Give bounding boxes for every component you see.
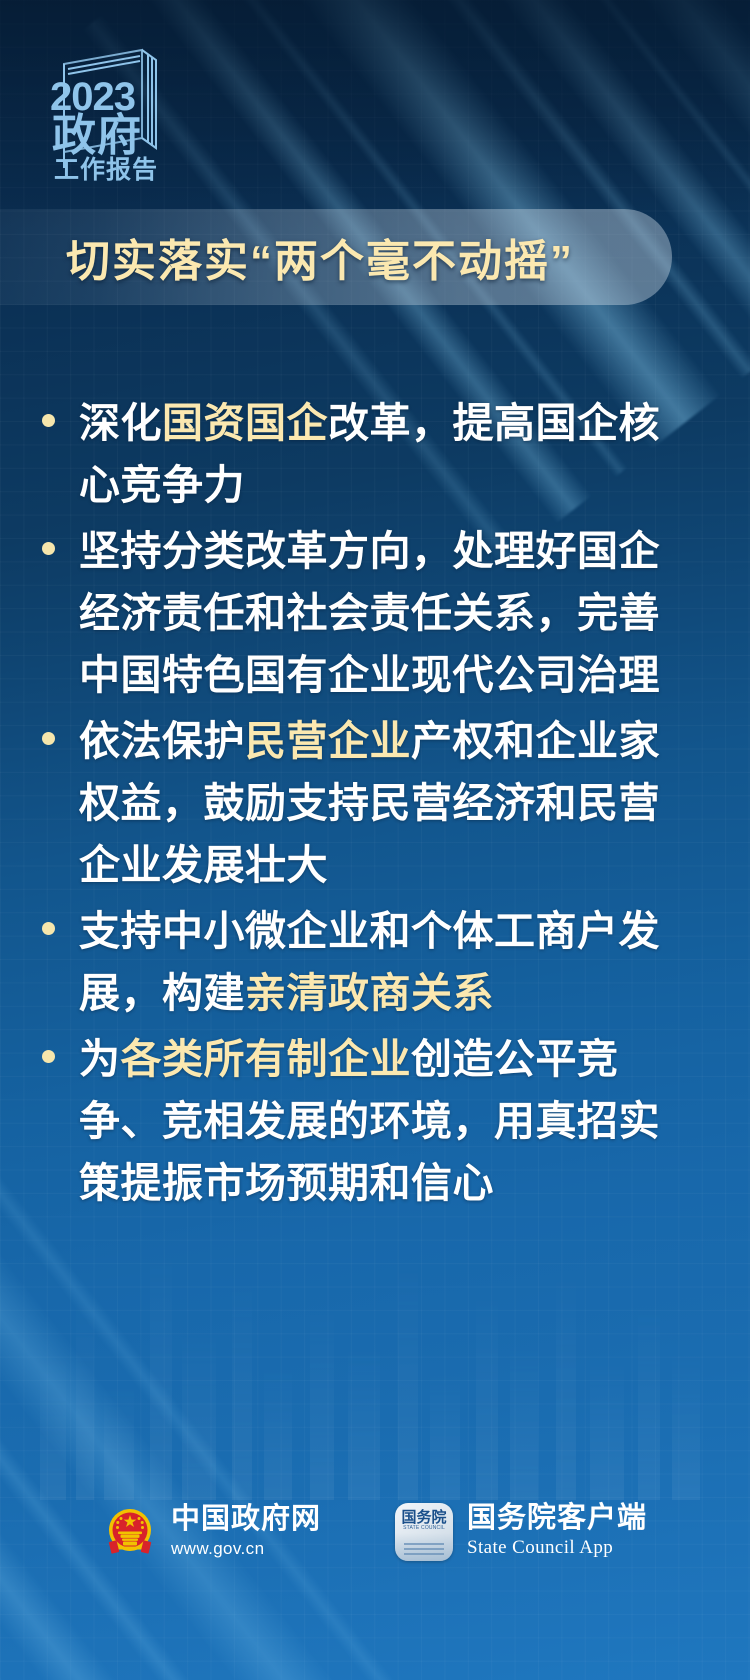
title-banner: 切实落实“两个毫不动摇” [0,209,672,305]
bullet-item: 为各类所有制企业创造公平竞争、竞相发展的环境，用真招实策提振市场预期和信心 [30,1028,698,1214]
app-subtitle: State Council App [467,1536,647,1561]
bullet-item: 支持中小微企业和个体工商户发展，构建亲清政商关系 [30,900,698,1024]
bullet-plain-text: 为 [79,1036,121,1082]
bullet-item: 依法保护民营企业产权和企业家权益，鼓励支持民营经济和民营企业发展壮大 [30,710,698,896]
bullet-highlight-text: 国资国企 [162,400,328,446]
book-icon: 2023 政府 工作报告 [44,42,204,182]
national-emblem-icon [103,1505,157,1559]
page-title: 切实落实“两个毫不动摇” [66,225,574,289]
bullet-plain-text: 依法保护 [79,718,245,764]
bullet-plain-text: 坚持分类改革方向，处理好国企经济责任和社会责任关系，完善中国特色国有企业现代公司… [79,528,660,698]
bullet-text: 支持中小微企业和个体工商户发展，构建亲清政商关系 [79,900,698,1024]
poster-root: 2023 政府 工作报告 切实落实“两个毫不动摇” 深化国资国企改革，提高国企核… [0,0,750,1680]
bullet-dot-icon [42,922,55,935]
bullet-highlight-text: 各类所有制企业 [121,1036,412,1082]
brand-state-council-app[interactable]: 国务院 STATE COUNCIL 国务院客户端 State Council A… [395,1503,647,1561]
state-council-app-icon: 国务院 STATE COUNCIL [395,1503,453,1561]
bullet-dot-icon [42,732,55,745]
bullet-highlight-text: 亲清政商关系 [245,970,494,1016]
bullet-dot-icon [42,414,55,427]
app-icon-building-art [395,1533,453,1561]
bullet-text: 为各类所有制企业创造公平竞争、竞相发展的环境，用真招实策提振市场预期和信心 [79,1028,698,1214]
app-icon-en-label: STATE COUNCIL [395,1526,453,1531]
brand-gov-cn[interactable]: 中国政府网 www.gov.cn [103,1504,321,1559]
bullet-dot-icon [42,1050,55,1063]
bullet-plain-text: 深化 [79,400,162,446]
bullet-text: 深化国资国企改革，提高国企核心竞争力 [79,392,698,516]
bullet-item: 深化国资国企改革，提高国企核心竞争力 [30,392,698,516]
bullet-dot-icon [42,542,55,555]
logo-line1: 政府 [52,111,142,160]
bullet-text: 坚持分类改革方向，处理好国企经济责任和社会责任关系，完善中国特色国有企业现代公司… [79,520,698,706]
bullet-text: 依法保护民营企业产权和企业家权益，鼓励支持民营经济和民营企业发展壮大 [79,710,698,896]
report-logo: 2023 政府 工作报告 [44,42,204,182]
bullet-highlight-text: 民营企业 [245,718,411,764]
gov-site-url: www.gov.cn [171,1538,321,1560]
footer-branding: 中国政府网 www.gov.cn 国务院 STATE COUNCIL 国务院客户… [0,1489,750,1575]
logo-line2: 工作报告 [54,156,158,182]
bullet-list: 深化国资国企改革，提高国企核心竞争力坚持分类改革方向，处理好国企经济责任和社会责… [30,392,698,1218]
app-icon-cn-label: 国务院 [395,1510,453,1525]
bullet-item: 坚持分类改革方向，处理好国企经济责任和社会责任关系，完善中国特色国有企业现代公司… [30,520,698,706]
gov-site-name: 中国政府网 [171,1504,321,1535]
app-name: 国务院客户端 [467,1503,647,1534]
